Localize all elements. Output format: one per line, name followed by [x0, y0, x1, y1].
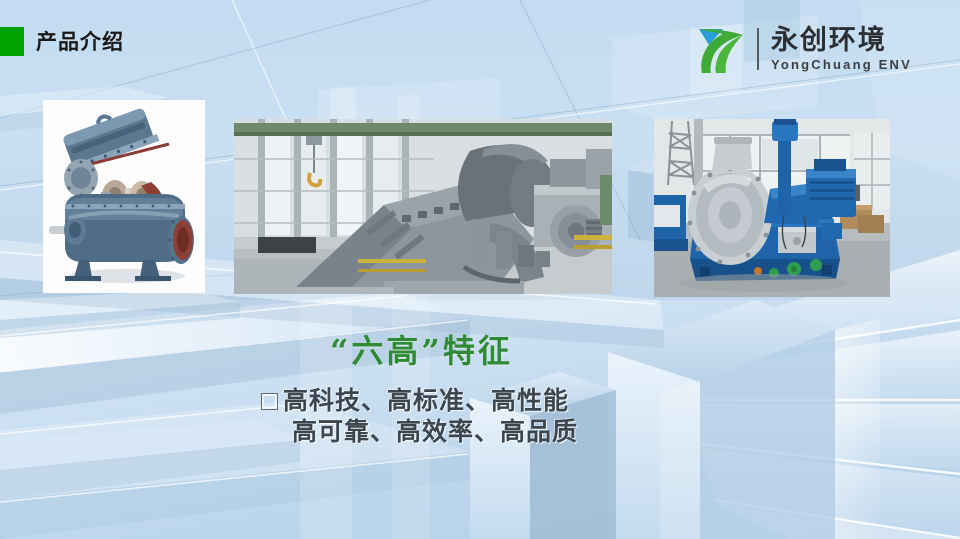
logo-chinese-name: 永创环境 [771, 27, 912, 54]
company-logo: 永创环境 YongChuang ENV [693, 22, 912, 76]
bullet-item-1-label: 高科技、高标准、高性能 [283, 386, 569, 417]
bullet-item-1: 高科技、高标准、高性能 [262, 386, 578, 417]
photo-factory-blue-blower-unit [654, 119, 890, 297]
photo-factory-large-gray-pump [234, 119, 612, 294]
slide-canvas: 产品介绍 永创环境 YongChuang ENV [0, 0, 960, 539]
yongchuang-swoosh-mark-icon [693, 23, 747, 75]
bullet-item-2: 高可靠、高效率、高品质 [292, 417, 578, 448]
logo-wordmark: 永创环境 YongChuang ENV [771, 27, 912, 71]
bullet-item-2-label: 高可靠、高效率、高品质 [292, 417, 578, 448]
slide-title-bar: 产品介绍 [0, 26, 124, 56]
photo-split-case-pump-cutaway [43, 100, 205, 293]
square-bullet-icon [262, 394, 277, 409]
title-accent-square [0, 27, 24, 56]
logo-divider [757, 28, 759, 70]
page-title: 产品介绍 [36, 26, 124, 56]
feature-headline: “六高”特征 [330, 326, 513, 372]
logo-english-name: YongChuang ENV [771, 58, 912, 71]
feature-bullet-list: 高科技、高标准、高性能 高可靠、高效率、高品质 [262, 386, 578, 447]
